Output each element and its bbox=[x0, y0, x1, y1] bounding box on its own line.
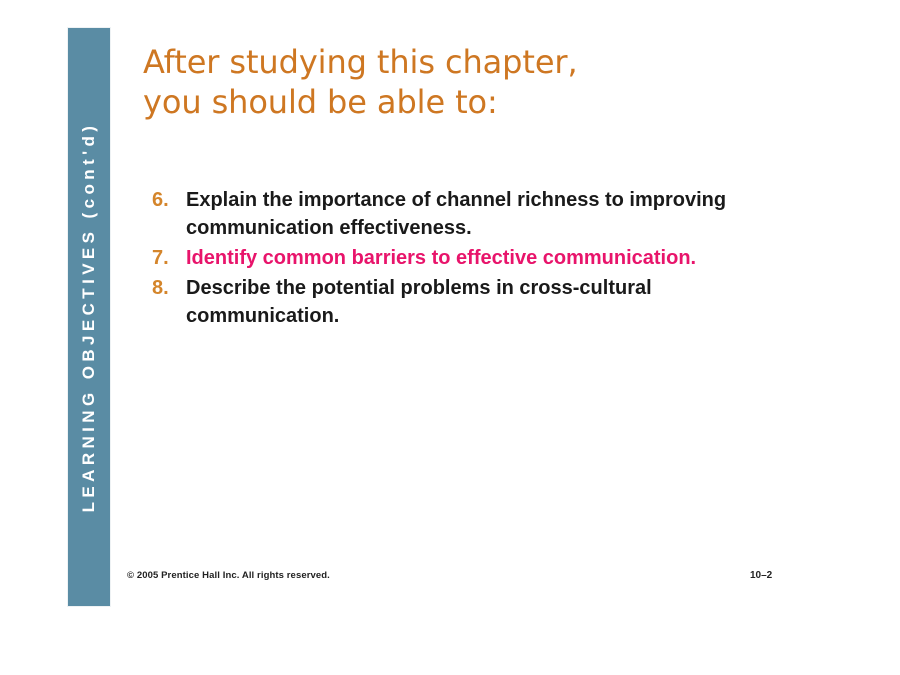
title-line-1: After studying this chapter, bbox=[143, 42, 803, 82]
list-item: 7. Identify common barriers to effective… bbox=[152, 244, 792, 272]
list-item-number: 7. bbox=[152, 244, 186, 272]
list-item: 6. Explain the importance of channel ric… bbox=[152, 186, 792, 242]
copyright-notice: © 2005 Prentice Hall Inc. All rights res… bbox=[127, 570, 330, 581]
page-title: After studying this chapter, you should … bbox=[143, 42, 803, 122]
list-item: 8. Describe the potential problems in cr… bbox=[152, 274, 792, 330]
list-item-text-highlighted: Identify common barriers to effective co… bbox=[186, 244, 766, 272]
banner-label: LEARNING OBJECTIVES (cont'd) bbox=[79, 122, 99, 513]
title-line-2: you should be able to: bbox=[143, 82, 803, 122]
objectives-list: 6. Explain the importance of channel ric… bbox=[152, 186, 792, 332]
slide-canvas: LEARNING OBJECTIVES (cont'd) After study… bbox=[0, 0, 900, 675]
learning-objectives-banner: LEARNING OBJECTIVES (cont'd) bbox=[68, 28, 110, 606]
list-item-text: Explain the importance of channel richne… bbox=[186, 186, 766, 242]
page-number: 10–2 bbox=[750, 570, 772, 581]
list-item-number: 8. bbox=[152, 274, 186, 302]
list-item-text: Describe the potential problems in cross… bbox=[186, 274, 766, 330]
list-item-number: 6. bbox=[152, 186, 186, 214]
